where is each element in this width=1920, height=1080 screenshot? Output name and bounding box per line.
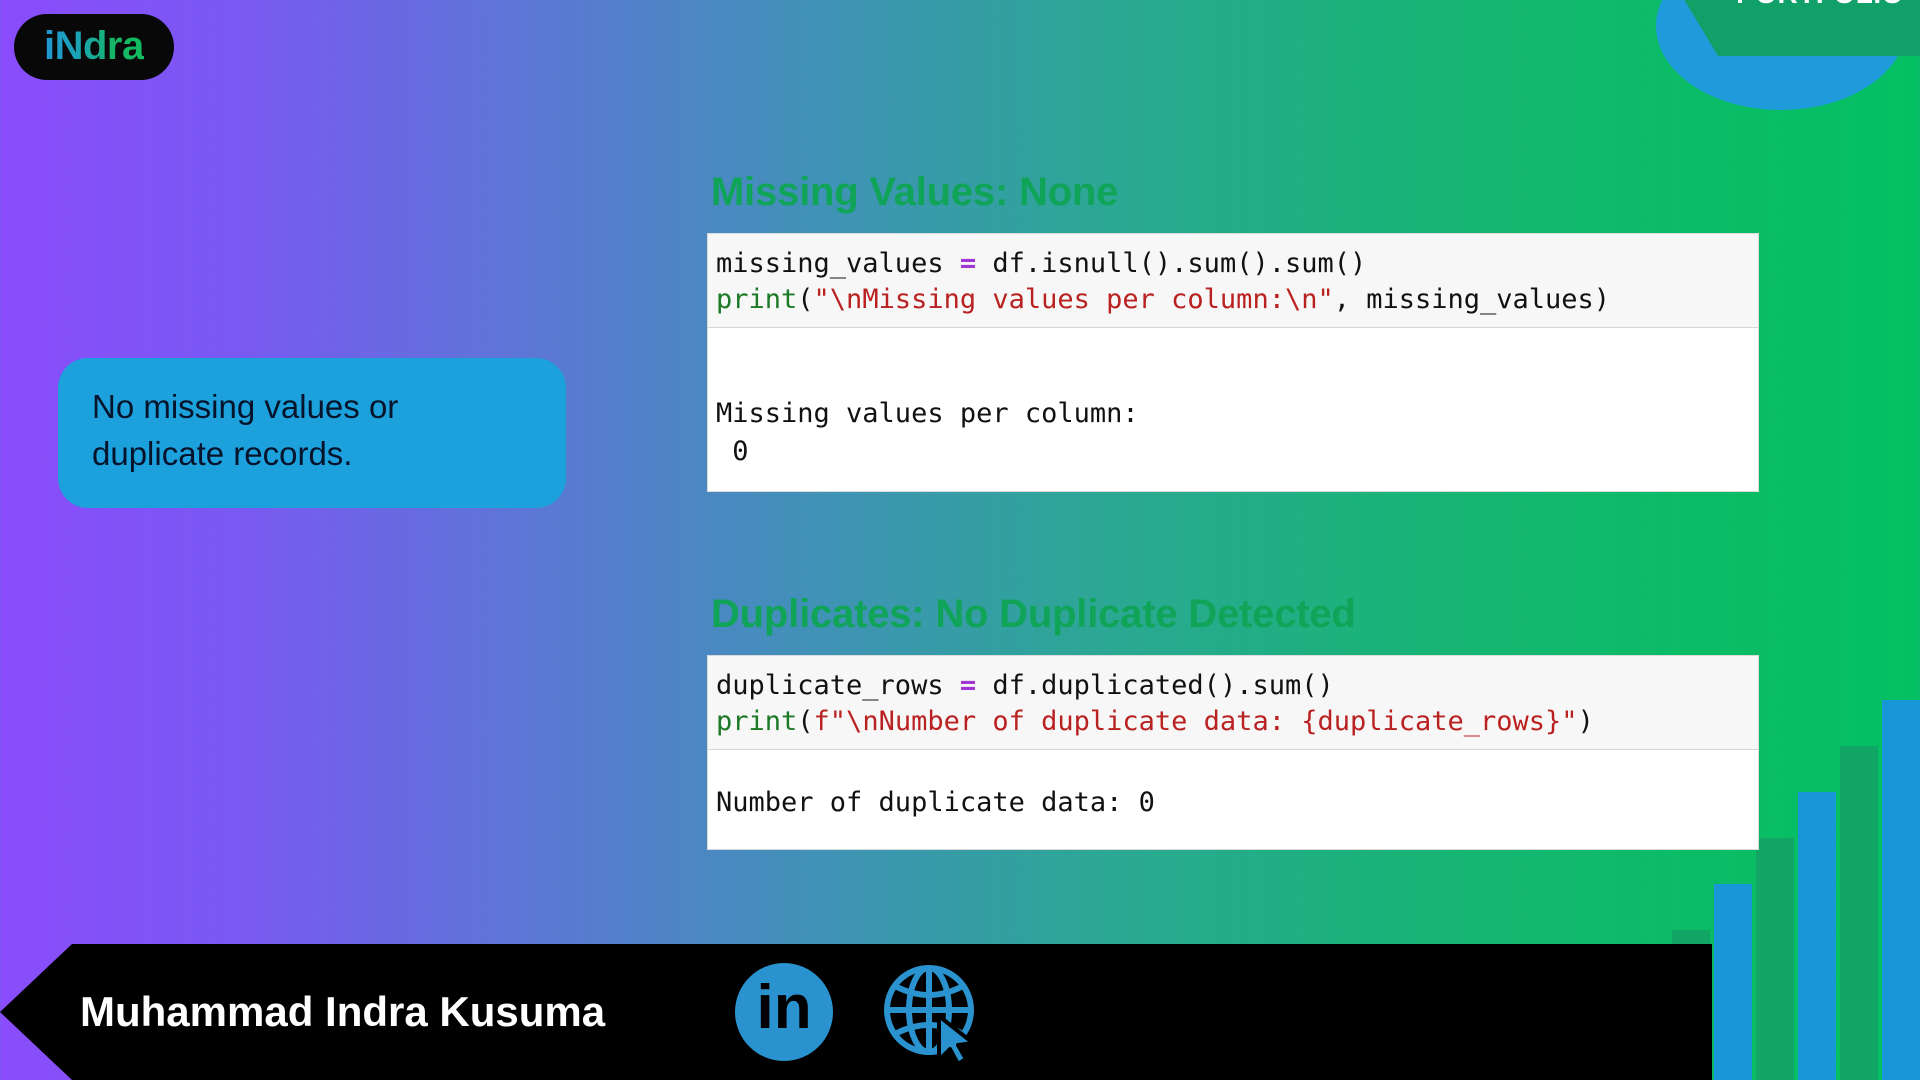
decorative-bar bbox=[1882, 700, 1920, 1080]
decorative-bar bbox=[1840, 746, 1878, 1080]
section-title-missing-values: Missing Values: None bbox=[711, 170, 1767, 215]
portfolio-badge: PORTFOLIO bbox=[1656, 0, 1920, 122]
section-missing-values: Missing Values: None missing_values = df… bbox=[707, 170, 1767, 492]
summary-callout-text: No missing values or duplicate records. bbox=[92, 384, 532, 478]
decorative-bar bbox=[1714, 884, 1752, 1080]
brand-logo-text: iNdra bbox=[44, 26, 144, 66]
output-block-missing-values: Missing values per column: 0 bbox=[708, 328, 1758, 491]
notebook-cell-missing-values: missing_values = df.isnull().sum().sum()… bbox=[707, 233, 1759, 492]
social-links: in bbox=[735, 960, 983, 1064]
notebook-cell-duplicates: duplicate_rows = df.duplicated().sum() p… bbox=[707, 655, 1759, 850]
code-block-duplicates[interactable]: duplicate_rows = df.duplicated().sum() p… bbox=[708, 656, 1758, 750]
portfolio-badge-label: PORTFOLIO bbox=[1736, 0, 1904, 56]
summary-callout: No missing values or duplicate records. bbox=[58, 358, 566, 508]
linkedin-icon[interactable]: in bbox=[735, 963, 833, 1061]
section-title-duplicates: Duplicates: No Duplicate Detected bbox=[711, 592, 1767, 637]
main-content: Missing Values: None missing_values = df… bbox=[707, 0, 1767, 850]
globe-cursor-icon[interactable] bbox=[879, 960, 983, 1064]
brand-logo[interactable]: iNdra bbox=[14, 14, 174, 80]
footer-bar: Muhammad Indra Kusuma in bbox=[0, 944, 1712, 1080]
output-block-duplicates: Number of duplicate data: 0 bbox=[708, 750, 1758, 848]
decorative-bar bbox=[1756, 838, 1794, 1080]
author-name: Muhammad Indra Kusuma bbox=[80, 988, 605, 1036]
decorative-bar bbox=[1798, 792, 1836, 1080]
code-block-missing-values[interactable]: missing_values = df.isnull().sum().sum()… bbox=[708, 234, 1758, 328]
section-duplicates: Duplicates: No Duplicate Detected duplic… bbox=[707, 592, 1767, 850]
